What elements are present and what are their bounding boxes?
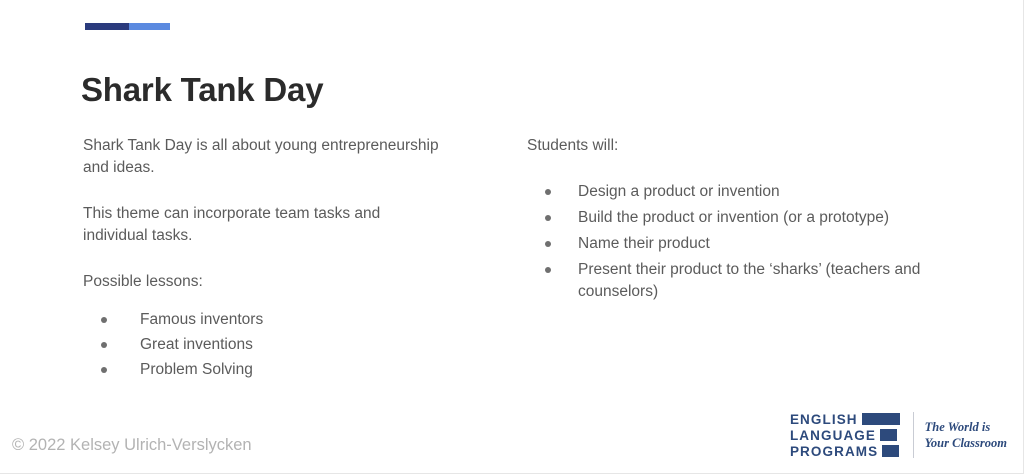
list-item-label: Design a product or invention — [578, 183, 780, 200]
bullet-dot-icon — [545, 215, 551, 221]
list-item: Present their product to the ‘sharks’ (t… — [527, 259, 927, 303]
list-item: Build the product or invention (or a pro… — [527, 207, 927, 229]
list-item-label: Present their product to the ‘sharks’ (t… — [578, 261, 920, 300]
copyright-notice: © 2022 Kelsey Ulrich-Verslycken — [12, 436, 252, 455]
logo-line-2: LANGUAGE — [790, 429, 900, 442]
logo-block-mark-icon — [882, 445, 899, 457]
list-item: Name their product — [527, 233, 927, 255]
bullet-dot-icon — [101, 367, 107, 373]
title-accent-bar — [85, 23, 170, 30]
logo-block-mark-icon — [880, 429, 897, 441]
slide-canvas: Shark Tank Day Shark Tank Day is all abo… — [0, 0, 1024, 474]
right-column: Students will: Design a product or inven… — [527, 135, 927, 307]
footer-logo-block: ENGLISH LANGUAGE PROGRAMS The World is Y… — [790, 407, 1007, 463]
right-bullet-list: Design a product or invention Build the … — [527, 181, 927, 303]
list-item-label: Name their product — [578, 235, 710, 252]
list-item: Problem Solving — [83, 359, 463, 381]
accent-bar-light-segment — [129, 23, 170, 30]
list-item-label: Great inventions — [140, 336, 253, 353]
page-title: Shark Tank Day — [81, 71, 323, 110]
left-column: Shark Tank Day is all about young entrep… — [83, 135, 463, 384]
accent-bar-dark-segment — [85, 23, 129, 30]
list-item: Design a product or invention — [527, 181, 927, 203]
logo-line-3: PROGRAMS — [790, 445, 900, 458]
logo-word-english: ENGLISH — [790, 413, 858, 426]
list-item: Great inventions — [83, 334, 463, 356]
bullet-dot-icon — [545, 241, 551, 247]
left-paragraph-2: This theme can incorporate team tasks an… — [83, 203, 443, 247]
tagline-line-1: The World is — [925, 419, 1007, 435]
logo-tagline: The World is Your Classroom — [925, 419, 1007, 452]
logo-block-mark-icon — [862, 413, 900, 425]
english-language-programs-logo: ENGLISH LANGUAGE PROGRAMS — [790, 413, 900, 458]
left-list-heading: Possible lessons: — [83, 271, 443, 293]
bullet-dot-icon — [101, 342, 107, 348]
list-item-label: Build the product or invention (or a pro… — [578, 209, 889, 226]
bullet-dot-icon — [545, 189, 551, 195]
list-item: Famous inventors — [83, 309, 463, 331]
list-item-label: Famous inventors — [140, 311, 263, 328]
logo-divider — [913, 412, 914, 458]
right-list-heading: Students will: — [527, 135, 887, 157]
logo-word-programs: PROGRAMS — [790, 445, 878, 458]
tagline-line-2: Your Classroom — [925, 435, 1007, 451]
logo-word-language: LANGUAGE — [790, 429, 876, 442]
bullet-dot-icon — [545, 267, 551, 273]
left-bullet-list: Famous inventors Great inventions Proble… — [83, 309, 463, 381]
logo-line-1: ENGLISH — [790, 413, 900, 426]
bullet-dot-icon — [101, 317, 107, 323]
left-paragraph-1: Shark Tank Day is all about young entrep… — [83, 135, 443, 179]
list-item-label: Problem Solving — [140, 361, 253, 378]
